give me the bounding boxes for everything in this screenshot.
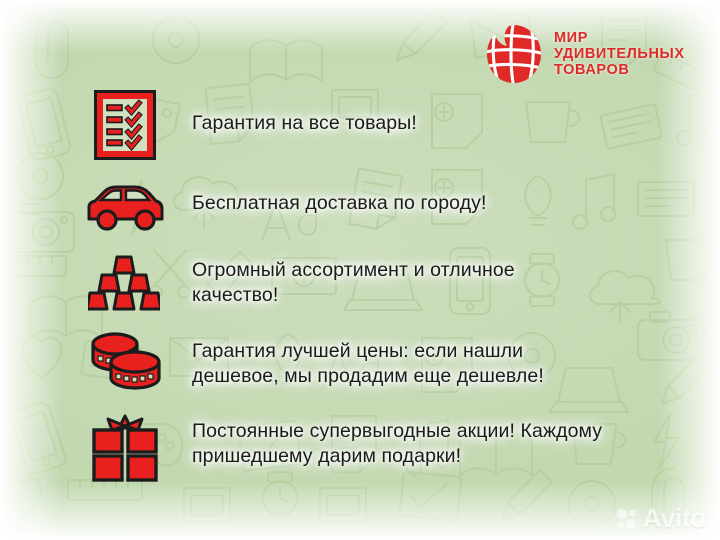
brand-line-2: УДИВИТЕЛЬНЫХ <box>554 46 685 62</box>
feature-text-guarantee: Гарантия на все товары! <box>192 111 612 136</box>
globe-logo-icon <box>483 22 545 86</box>
car-icon <box>85 181 165 233</box>
gold-bars-icon <box>88 253 160 313</box>
gift-icon <box>88 412 162 484</box>
avito-watermark: Avito <box>616 505 707 532</box>
feature-text-best-price: Гарантия лучшей цены: если нашли дешевое… <box>192 339 592 390</box>
crowns-icon <box>85 330 165 394</box>
feature-text-delivery: Бесплатная доставка по городу! <box>192 191 622 216</box>
feature-text-promotions: Постоянные супервыгодные акции! Каждому … <box>192 419 612 470</box>
feature-text-assortment: Огромный ассортимент и отличное качество… <box>192 258 582 309</box>
brand-logo-text: МИР УДИВИТЕЛЬНЫХ ТОВАРОВ <box>554 30 685 79</box>
brand-logo: МИР УДИВИТЕЛЬНЫХ ТОВАРОВ <box>483 22 685 86</box>
brand-line-3: ТОВАРОВ <box>554 62 685 78</box>
checklist-icon <box>92 88 158 162</box>
brand-line-1: МИР <box>554 30 685 46</box>
promo-poster: МИР УДИВИТЕЛЬНЫХ ТОВАРОВ <box>0 0 720 540</box>
avito-wordmark: Avito <box>643 505 707 532</box>
avito-dots-icon <box>616 508 638 530</box>
